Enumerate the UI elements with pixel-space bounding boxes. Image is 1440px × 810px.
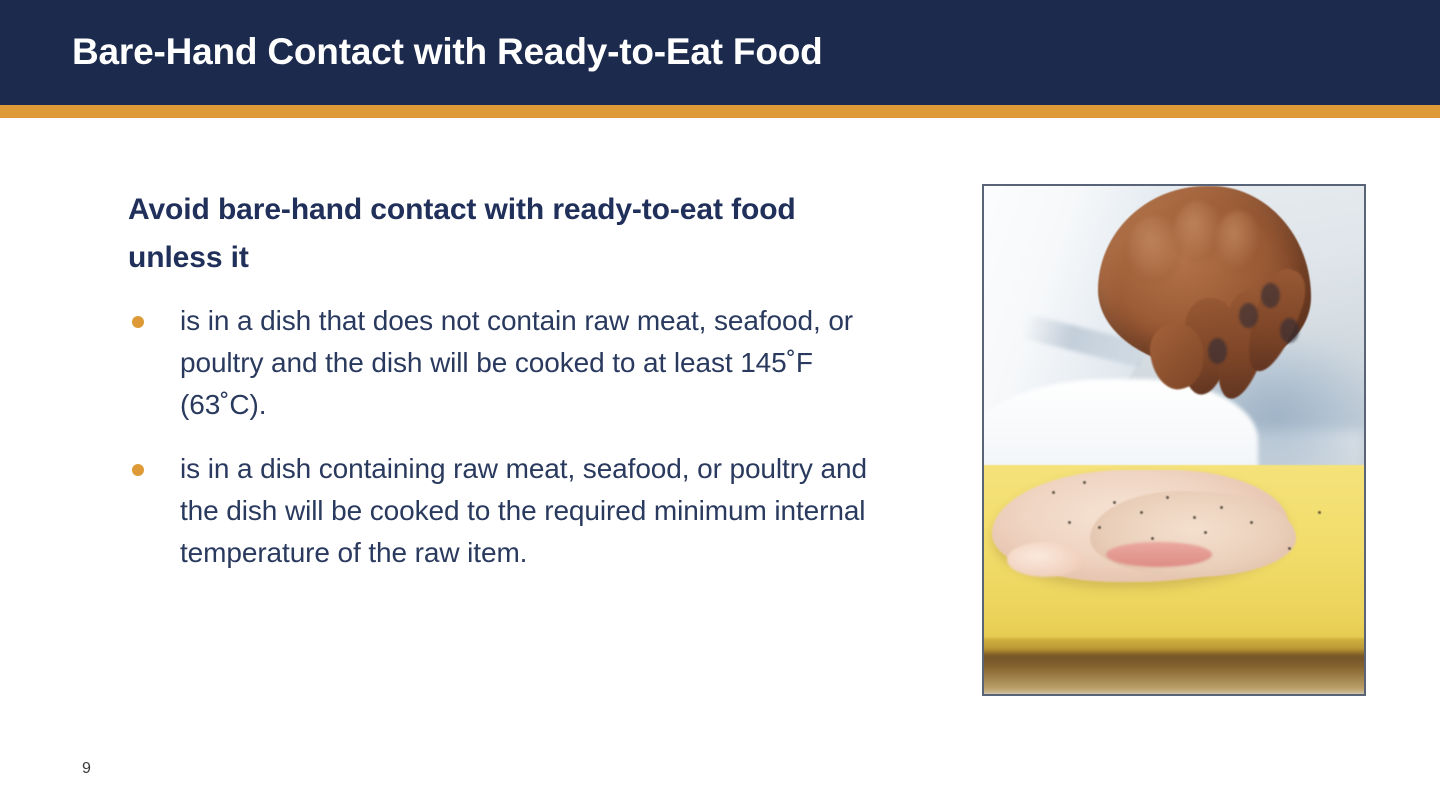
slide-number: 9 <box>82 760 91 778</box>
bullet-list: is in a dish that does not contain raw m… <box>128 300 868 574</box>
content-column: Avoid bare-hand contact with ready-to-ea… <box>128 186 868 574</box>
list-item: is in a dish that does not contain raw m… <box>128 300 868 426</box>
page-title: Bare-Hand Contact with Ready-to-Eat Food <box>72 28 1392 76</box>
slide: Bare-Hand Contact with Ready-to-Eat Food… <box>0 0 1440 810</box>
bullet-dot-icon <box>132 316 144 328</box>
lead-heading: Avoid bare-hand contact with ready-to-ea… <box>128 186 868 282</box>
bullet-dot-icon <box>132 464 144 476</box>
list-item-text: is in a dish that does not contain raw m… <box>180 300 868 426</box>
photo-illustration <box>984 186 1364 694</box>
list-item: is in a dish containing raw meat, seafoo… <box>128 448 868 574</box>
list-item-text: is in a dish containing raw meat, seafoo… <box>180 448 868 574</box>
header-accent-bar <box>0 105 1440 118</box>
slide-header-bar: Bare-Hand Contact with Ready-to-Eat Food <box>0 0 1440 105</box>
content-photo <box>982 184 1366 696</box>
